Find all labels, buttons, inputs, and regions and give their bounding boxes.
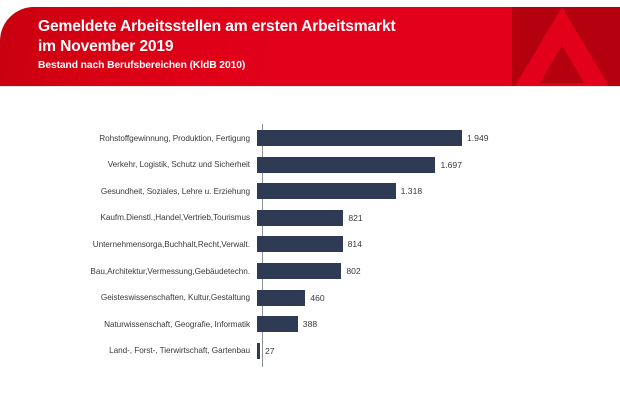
chart-title-line-2: im November 2019 <box>38 37 520 57</box>
bar-wrap: 27 <box>257 338 620 364</box>
bar-category-label: Kaufm.Dienstl.,Handel,Vertrieb,Tourismus <box>0 213 256 222</box>
chart-title-line-1: Gemeldete Arbeitsstellen am ersten Arbei… <box>38 17 520 37</box>
chart-subtitle: Bestand nach Berufsbereichen (KldB 2010) <box>38 60 520 71</box>
bar-value-label: 1.318 <box>401 186 423 196</box>
bar-value-label: 1.697 <box>440 160 462 170</box>
bar <box>257 290 305 306</box>
bar-row: Unternehmensorga,Buchhalt,Recht,Verwalt.… <box>0 231 620 257</box>
bar-row: Bau,Architektur,Vermessung,Gebäudetechn.… <box>0 258 620 284</box>
bar-value-label: 814 <box>348 239 362 249</box>
bar-category-label: Gesundheit, Soziales, Lehre u. Erziehung <box>0 187 256 196</box>
bar <box>257 316 298 332</box>
chart-header-banner: Gemeldete Arbeitsstellen am ersten Arbei… <box>0 7 620 86</box>
bar-row: Rohstoffgewinnung, Produktion, Fertigung… <box>0 125 620 151</box>
bar-category-label: Bau,Architektur,Vermessung,Gebäudetechn. <box>0 267 256 276</box>
bundesagentur-fuer-arbeit-logo-icon <box>510 7 614 86</box>
bar-wrap: 802 <box>257 258 620 284</box>
bar-value-label: 821 <box>348 213 362 223</box>
bar-value-label: 460 <box>310 293 324 303</box>
bar-category-label: Verkehr, Logistik, Schutz und Sicherheit <box>0 160 256 169</box>
bar <box>257 130 462 146</box>
bar-wrap: 814 <box>257 231 620 257</box>
bar-row: Verkehr, Logistik, Schutz und Sicherheit… <box>0 152 620 178</box>
bar-category-label: Rohstoffgewinnung, Produktion, Fertigung <box>0 134 256 143</box>
bar-wrap: 1.697 <box>257 152 620 178</box>
bar-category-label: Naturwissenschaft, Geografie, Informatik <box>0 320 256 329</box>
bar <box>257 263 341 279</box>
bar <box>257 157 435 173</box>
bar-row: Geisteswissenschaften, Kultur,Gestaltung… <box>0 285 620 311</box>
bar-category-label: Geisteswissenschaften, Kultur,Gestaltung <box>0 293 256 302</box>
bar-row: Gesundheit, Soziales, Lehre u. Erziehung… <box>0 178 620 204</box>
bar-chart: Rohstoffgewinnung, Produktion, Fertigung… <box>0 86 620 414</box>
bar-category-label: Unternehmensorga,Buchhalt,Recht,Verwalt. <box>0 240 256 249</box>
bar-category-label: Land-, Forst-, Tierwirtschaft, Gartenbau <box>0 346 256 355</box>
bar-wrap: 1.318 <box>257 178 620 204</box>
bar-value-label: 27 <box>265 346 275 356</box>
header-text-block: Gemeldete Arbeitsstellen am ersten Arbei… <box>38 17 520 71</box>
bar-row: Kaufm.Dienstl.,Handel,Vertrieb,Tourismus… <box>0 205 620 231</box>
logo-panel <box>512 7 620 86</box>
bar-wrap: 1.949 <box>257 125 620 151</box>
bar-value-label: 802 <box>346 266 360 276</box>
bar <box>257 210 343 226</box>
bar-wrap: 460 <box>257 285 620 311</box>
bar <box>257 236 343 252</box>
bar-wrap: 821 <box>257 205 620 231</box>
bar <box>257 183 396 199</box>
bar-value-label: 388 <box>303 319 317 329</box>
bar-row: Land-, Forst-, Tierwirtschaft, Gartenbau… <box>0 338 620 364</box>
bar-row: Naturwissenschaft, Geografie, Informatik… <box>0 311 620 337</box>
bar <box>257 343 260 359</box>
bar-value-label: 1.949 <box>467 133 489 143</box>
bar-wrap: 388 <box>257 311 620 337</box>
plot-area: Rohstoffgewinnung, Produktion, Fertigung… <box>0 86 620 414</box>
